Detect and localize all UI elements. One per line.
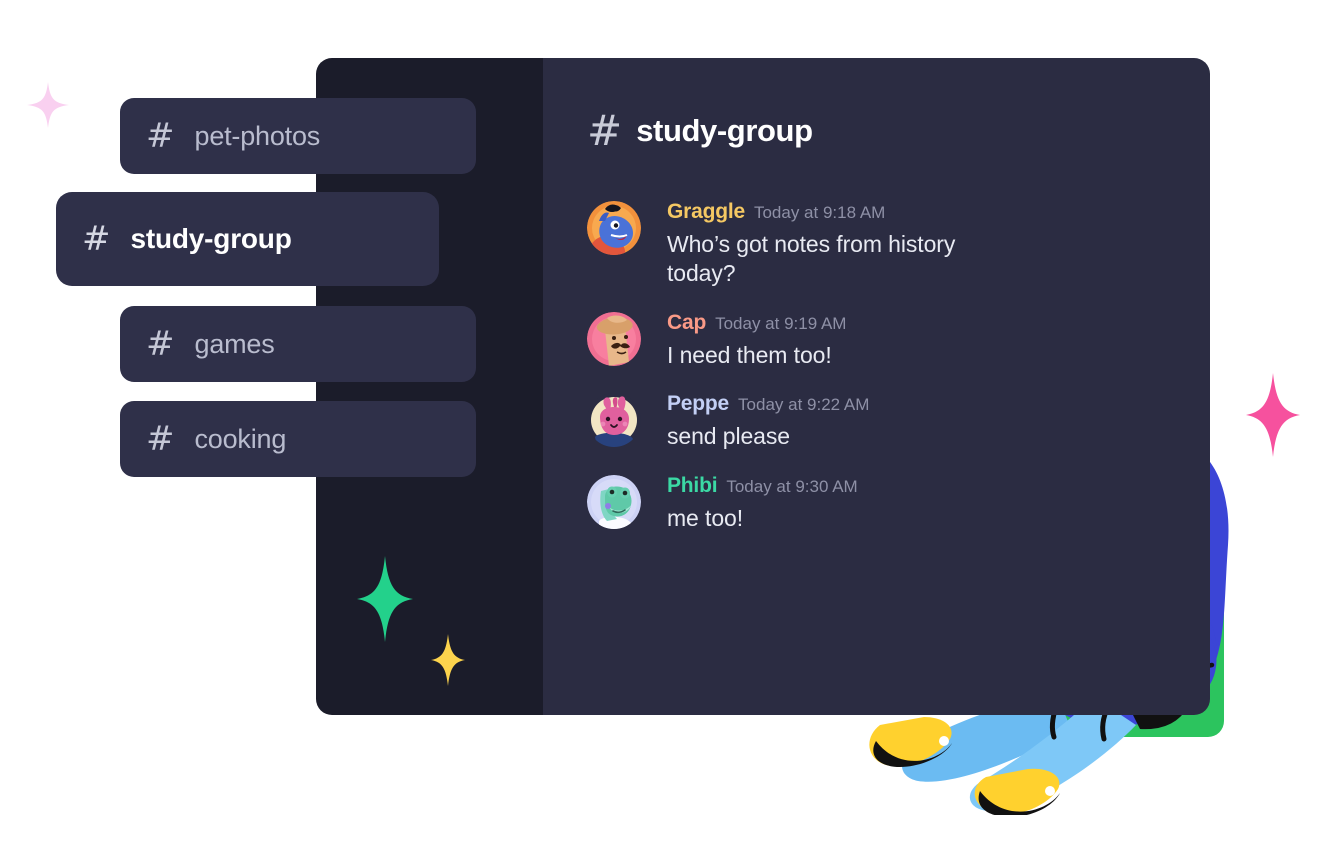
avatar-phibi-frog (587, 475, 641, 529)
message-author: Cap (667, 311, 706, 335)
message-timestamp: Today at 9:19 AM (715, 314, 846, 334)
hash-icon: # (587, 110, 622, 152)
message-meta: Phibi Today at 9:30 AM (667, 474, 858, 498)
sidebar-item-label: study-group (131, 223, 292, 255)
avatar[interactable] (587, 201, 641, 255)
hash-icon: # (146, 327, 175, 361)
hash-icon: # (146, 422, 175, 456)
sparkle-yellow-icon (431, 634, 465, 686)
page-title: study-group (636, 113, 812, 149)
chat-panel: # study-group (543, 58, 1210, 715)
sidebar-item-games[interactable]: # games (120, 306, 476, 382)
channel-header: # study-group (587, 110, 1210, 152)
sparkle-pink-hot-icon (1246, 373, 1300, 457)
avatar[interactable] (587, 475, 641, 529)
message-item[interactable]: Cap Today at 9:19 AM I need them too! (587, 309, 1210, 370)
message-meta: Cap Today at 9:19 AM (667, 311, 846, 335)
message-body: Graggle Today at 9:18 AM Who’s got notes… (667, 198, 997, 289)
message-body: Peppe Today at 9:22 AM send please (667, 390, 869, 451)
avatar-cap-hat (587, 312, 641, 366)
sidebar-item-label: games (195, 329, 275, 360)
message-timestamp: Today at 9:30 AM (726, 477, 857, 497)
avatar-peppe-bunny (587, 393, 641, 447)
avatar[interactable] (587, 312, 641, 366)
sparkle-pink-light-icon (27, 82, 69, 128)
sidebar-item-study-group[interactable]: # study-group (56, 192, 439, 286)
message-list: Graggle Today at 9:18 AM Who’s got notes… (587, 198, 1210, 553)
message-body: Phibi Today at 9:30 AM me too! (667, 472, 858, 533)
sidebar-item-pet-photos[interactable]: # pet-photos (120, 98, 476, 174)
message-author: Peppe (667, 392, 729, 416)
hash-icon: # (146, 119, 175, 153)
message-meta: Peppe Today at 9:22 AM (667, 392, 869, 416)
sidebar-item-cooking[interactable]: # cooking (120, 401, 476, 477)
message-author: Phibi (667, 474, 717, 498)
message-meta: Graggle Today at 9:18 AM (667, 200, 997, 224)
hash-icon: # (82, 222, 111, 256)
message-timestamp: Today at 9:22 AM (738, 395, 869, 415)
sparkle-green-icon (357, 556, 413, 642)
message-timestamp: Today at 9:18 AM (754, 203, 885, 223)
screenshot-root: # study-group (0, 0, 1336, 846)
message-author: Graggle (667, 200, 745, 224)
message-item[interactable]: Phibi Today at 9:30 AM me too! (587, 472, 1210, 533)
avatar[interactable] (587, 393, 641, 447)
message-item[interactable]: Peppe Today at 9:22 AM send please (587, 390, 1210, 451)
avatar-graggle-genie (587, 201, 641, 255)
message-body: Cap Today at 9:19 AM I need them too! (667, 309, 846, 370)
sidebar-item-label: pet-photos (195, 121, 321, 152)
message-text: send please (667, 422, 869, 451)
sidebar-item-label: cooking (195, 424, 287, 455)
message-text: Who’s got notes from history today? (667, 230, 997, 289)
message-item[interactable]: Graggle Today at 9:18 AM Who’s got notes… (587, 198, 1210, 289)
message-text: I need them too! (667, 341, 846, 370)
message-text: me too! (667, 504, 858, 533)
